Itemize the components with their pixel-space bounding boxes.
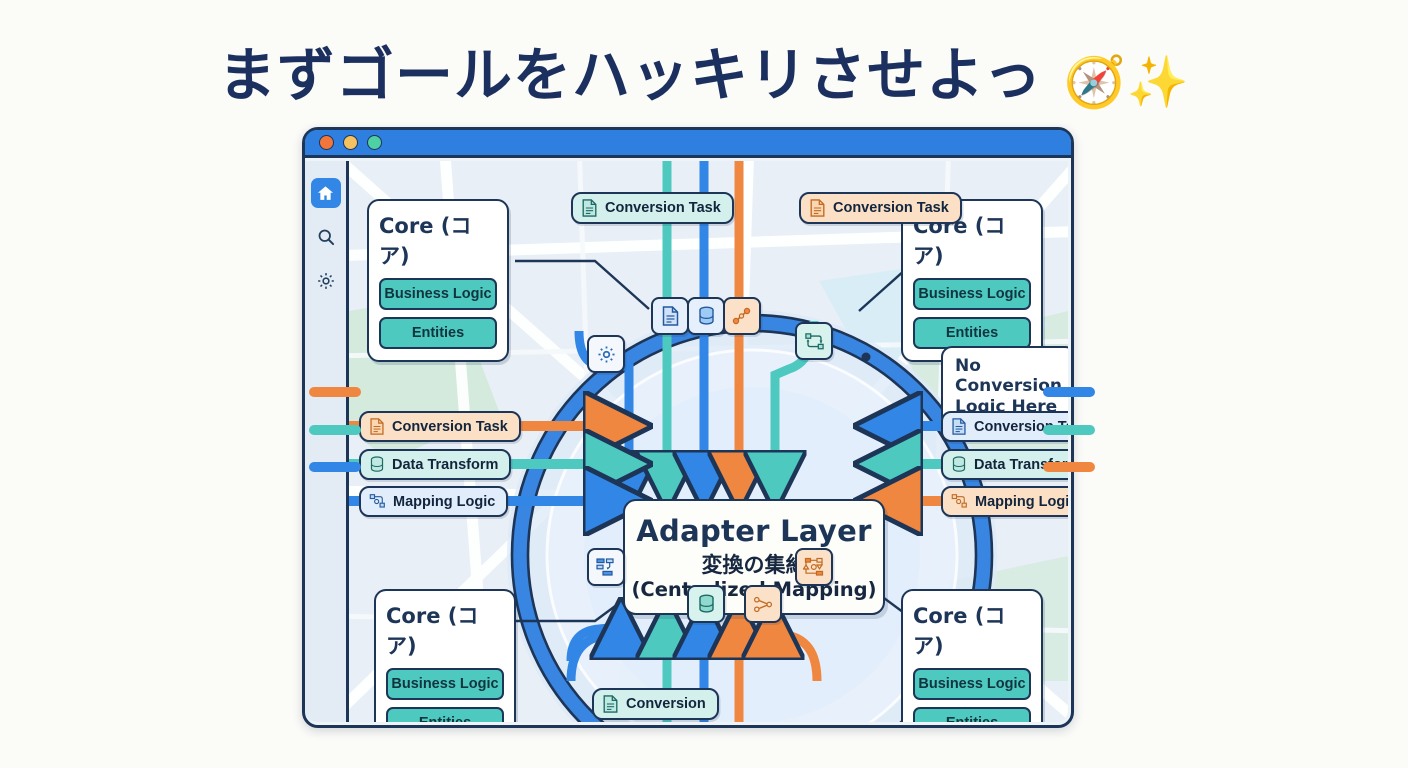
tile-flowchart-left[interactable] <box>587 548 625 586</box>
pill-conversion-task-right[interactable]: Conversion Task <box>941 411 1068 442</box>
pill-label: Conversion Task <box>974 419 1068 435</box>
tile-gear[interactable] <box>587 335 625 373</box>
pill-label: Conversion <box>626 696 706 712</box>
minimize-button[interactable] <box>343 135 358 150</box>
pill-mapping-logic-right[interactable]: Mapping Logic <box>941 486 1068 517</box>
core-title: Core (コア) <box>379 210 497 270</box>
search-icon <box>316 227 336 247</box>
window-titlebar <box>305 130 1071 158</box>
browser-window: Core (コア) Business Logic Entities Core (… <box>302 127 1074 728</box>
document-icon <box>661 306 680 326</box>
document-icon <box>602 695 619 713</box>
core-chip-entities[interactable]: Entities <box>913 707 1031 722</box>
flowchart-icon <box>803 556 825 578</box>
document-icon <box>809 199 826 217</box>
sidebar-item-search[interactable] <box>311 222 341 252</box>
pill-label: Conversion Task <box>392 419 508 435</box>
close-button[interactable] <box>319 135 334 150</box>
core-box-bottom-right[interactable]: Core (コア) Business Logic Entities <box>901 589 1043 722</box>
tile-document[interactable] <box>651 297 689 335</box>
gear-icon <box>596 344 617 365</box>
note-line-1: No Conversion <box>955 356 1062 397</box>
maximize-button[interactable] <box>367 135 382 150</box>
document-icon <box>369 418 385 435</box>
compass-sparkles-emoji: 🧭✨ <box>1063 53 1190 111</box>
document-icon <box>581 199 598 217</box>
gear-icon <box>316 271 336 291</box>
core-chip-entities[interactable]: Entities <box>379 317 497 349</box>
pill-data-transform-right[interactable]: Data Transform <box>941 449 1068 480</box>
home-icon <box>316 184 335 203</box>
pill-label: Conversion Task <box>605 200 721 216</box>
core-chip-entities[interactable]: Entities <box>913 317 1031 349</box>
nodes-icon <box>732 306 752 326</box>
flowchart-icon <box>595 556 617 578</box>
core-chip-business-logic[interactable]: Business Logic <box>913 668 1031 700</box>
tile-transform[interactable] <box>795 322 833 360</box>
tile-database-bottom[interactable] <box>687 585 725 623</box>
pill-label: Conversion Task <box>833 200 949 216</box>
tile-flowchart-right[interactable] <box>795 548 833 586</box>
sidebar-item-settings[interactable] <box>311 266 341 296</box>
tile-nodes[interactable] <box>723 297 761 335</box>
pill-label: Data Transform <box>392 457 498 473</box>
transform-icon <box>804 331 825 352</box>
pill-conversion-task-left[interactable]: Conversion Task <box>359 411 521 442</box>
page-title-text: まずゴールをハッキリさせよっ <box>218 41 1042 109</box>
core-chip-business-logic[interactable]: Business Logic <box>386 668 504 700</box>
pill-mapping-logic-left[interactable]: Mapping Logic <box>359 486 508 517</box>
pill-conversion-task-top-left[interactable]: Conversion Task <box>571 192 734 224</box>
core-chip-business-logic[interactable]: Business Logic <box>913 278 1031 310</box>
database-icon <box>697 306 716 326</box>
sidebar-item-home[interactable] <box>311 178 341 208</box>
adapter-layer-title: Adapter Layer <box>636 514 871 548</box>
pill-conversion-bottom[interactable]: Conversion <box>592 688 719 720</box>
database-icon <box>369 456 385 473</box>
sidebar <box>305 161 349 722</box>
database-icon <box>951 456 967 473</box>
core-title: Core (コア) <box>386 600 504 660</box>
core-chip-entities[interactable]: Entities <box>386 707 504 722</box>
tile-branch[interactable] <box>744 585 782 623</box>
core-box-bottom-left[interactable]: Core (コア) Business Logic Entities <box>374 589 516 722</box>
core-chip-business-logic[interactable]: Business Logic <box>379 278 497 310</box>
mapping-icon <box>369 493 386 510</box>
document-icon <box>951 418 967 435</box>
pill-label: Data Transform <box>974 457 1068 473</box>
tile-database-top[interactable] <box>687 297 725 335</box>
core-title: Core (コア) <box>913 600 1031 660</box>
diagram-canvas: Core (コア) Business Logic Entities Core (… <box>349 161 1068 722</box>
page-title: まずゴールをハッキリさせよっ 🧭✨ <box>0 28 1408 112</box>
branch-icon <box>753 594 774 615</box>
core-box-top-left[interactable]: Core (コア) Business Logic Entities <box>367 199 509 362</box>
adapter-layer-subtitle-jp: 変換の集約 <box>702 549 807 579</box>
pill-conversion-task-top-right[interactable]: Conversion Task <box>799 192 962 224</box>
database-icon <box>697 594 716 614</box>
pill-label: Mapping Logic <box>975 494 1068 510</box>
mapping-icon <box>951 493 968 510</box>
pill-data-transform-left[interactable]: Data Transform <box>359 449 511 480</box>
pill-label: Mapping Logic <box>393 494 495 510</box>
